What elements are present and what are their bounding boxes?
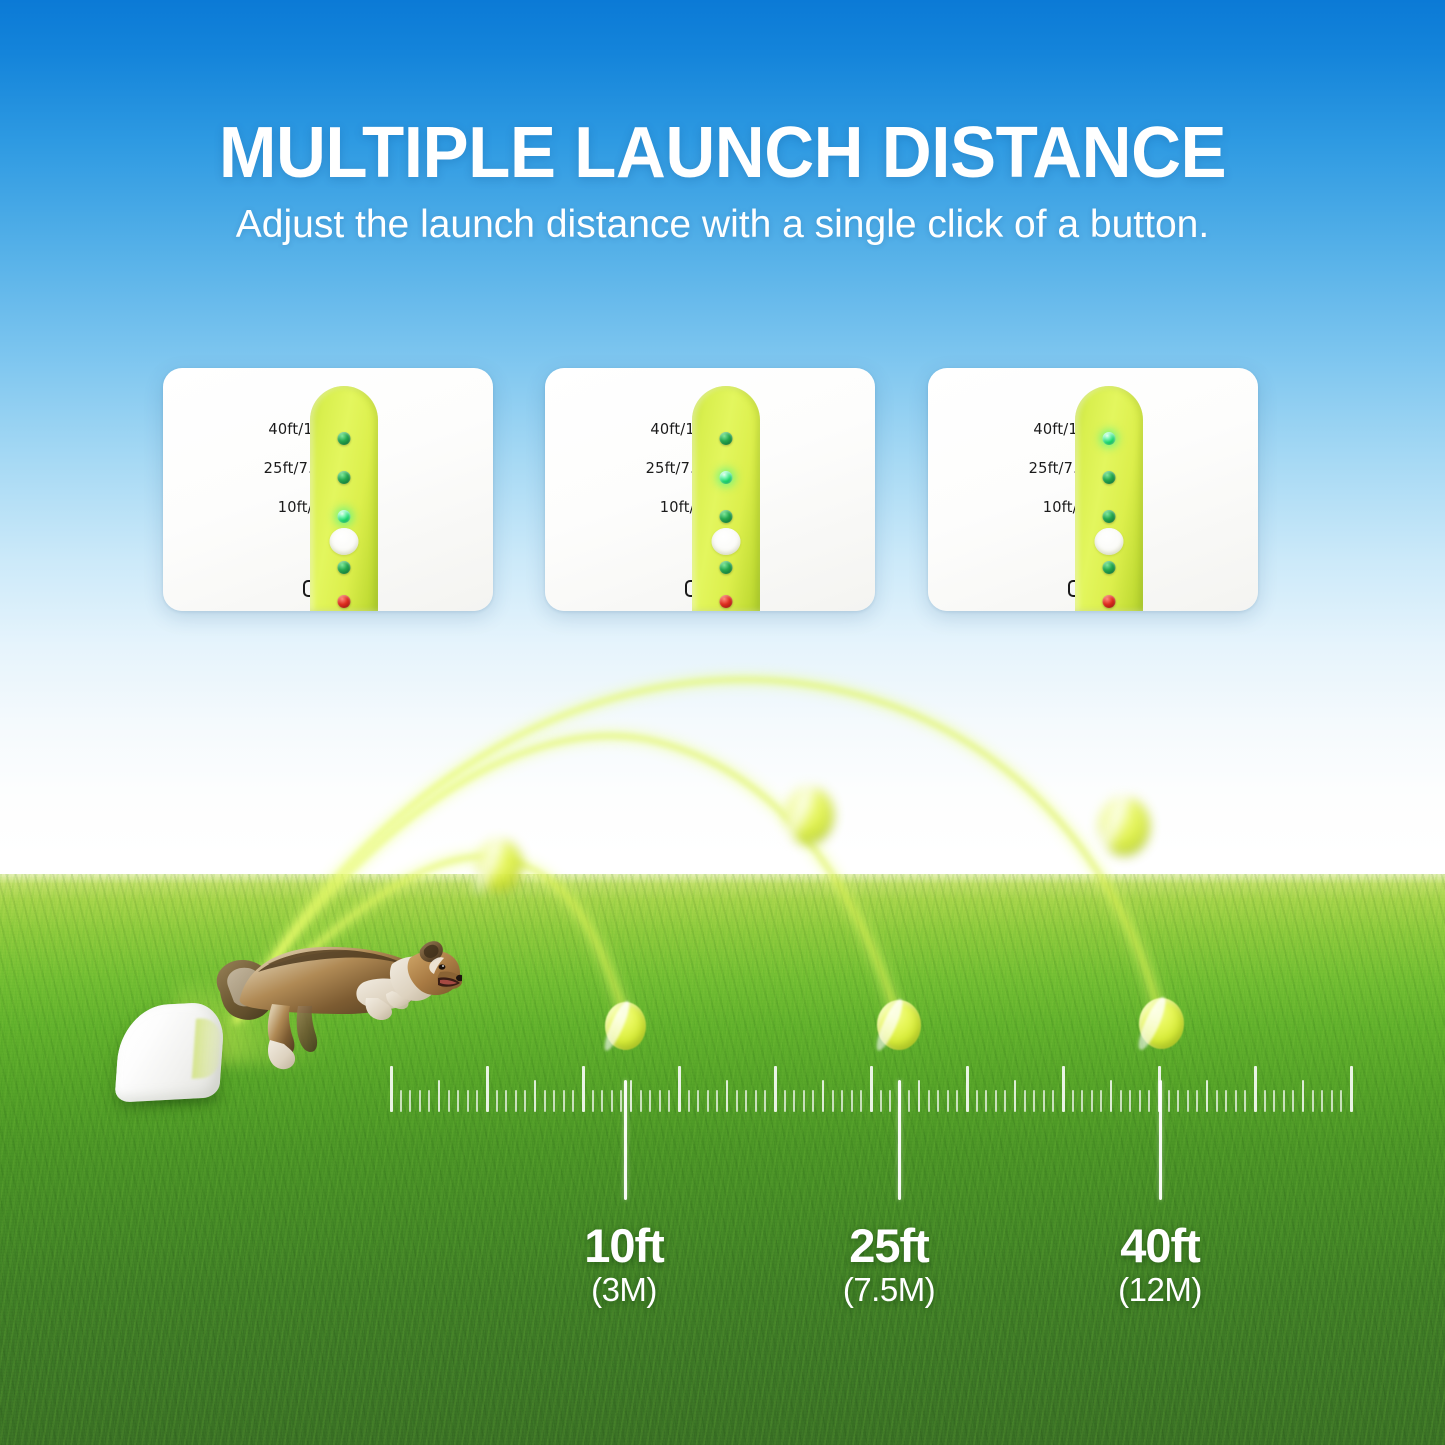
marker-25ft-meters: (7.5M) xyxy=(789,1269,989,1310)
led-40ft xyxy=(720,432,733,445)
page-subtitle: Adjust the launch distance with a single… xyxy=(0,203,1445,247)
ruler-tick xyxy=(1120,1090,1122,1112)
ruler-tick xyxy=(918,1080,920,1112)
ruler-tick xyxy=(745,1090,747,1112)
ruler-tick xyxy=(563,1090,565,1112)
ruler-tick xyxy=(1129,1090,1131,1112)
ruler-tick xyxy=(812,1090,814,1112)
ruler-tick xyxy=(611,1090,613,1112)
ruler-tick xyxy=(1139,1090,1141,1112)
led-10ft xyxy=(338,510,351,523)
ruler-tick xyxy=(1340,1090,1342,1112)
led-on xyxy=(338,561,351,574)
led-battery xyxy=(1103,595,1116,608)
dropline-40ft xyxy=(1159,1080,1162,1200)
ruler-tick xyxy=(534,1080,536,1112)
ruler-tick xyxy=(476,1090,478,1112)
ruler-tick xyxy=(515,1090,517,1112)
measuring-ruler xyxy=(390,1066,1355,1112)
marker-10ft: 10ft (3M) xyxy=(524,1222,724,1310)
led-25ft xyxy=(720,471,733,484)
ruler-tick xyxy=(784,1090,786,1112)
marker-25ft: 25ft (7.5M) xyxy=(789,1222,989,1310)
ruler-tick xyxy=(995,1090,997,1112)
control-strip xyxy=(310,386,378,611)
control-strip xyxy=(692,386,760,611)
ruler-tick xyxy=(486,1066,489,1112)
ruler-tick xyxy=(966,1066,969,1112)
power-button[interactable] xyxy=(712,528,741,555)
ruler-tick xyxy=(438,1080,440,1112)
led-10ft xyxy=(1103,510,1116,523)
tennis-ball-air-10ft xyxy=(476,838,522,892)
power-button[interactable] xyxy=(1095,528,1124,555)
ruler-tick xyxy=(1225,1090,1227,1112)
ruler-tick xyxy=(1072,1090,1074,1112)
ruler-tick xyxy=(870,1066,873,1112)
ruler-tick xyxy=(1331,1090,1333,1112)
ruler-tick xyxy=(928,1090,930,1112)
ruler-tick xyxy=(553,1090,555,1112)
ruler-tick xyxy=(678,1066,681,1112)
ruler-tick xyxy=(947,1090,949,1112)
ruler-tick xyxy=(716,1090,718,1112)
ruler-tick xyxy=(640,1090,642,1112)
ruler-tick xyxy=(707,1090,709,1112)
ruler-tick xyxy=(860,1090,862,1112)
ruler-tick xyxy=(764,1090,766,1112)
ruler-tick xyxy=(985,1090,987,1112)
ruler-tick xyxy=(505,1090,507,1112)
ruler-tick xyxy=(1110,1080,1112,1112)
ruler-tick xyxy=(659,1090,661,1112)
led-on xyxy=(1103,561,1116,574)
ruler-tick xyxy=(620,1090,622,1112)
ruler-tick xyxy=(1244,1090,1246,1112)
ruler-tick xyxy=(803,1090,805,1112)
led-40ft xyxy=(338,432,351,445)
ruler-tick xyxy=(697,1090,699,1112)
ruler-tick xyxy=(1033,1090,1035,1112)
tennis-ball-air-40ft xyxy=(1098,796,1150,856)
ruler-tick xyxy=(736,1090,738,1112)
ruler-tick xyxy=(1216,1090,1218,1112)
ruler-tick xyxy=(544,1090,546,1112)
ruler-tick xyxy=(851,1090,853,1112)
tennis-ball-air-25ft xyxy=(784,786,834,844)
ruler-tick xyxy=(572,1090,574,1112)
ruler-tick xyxy=(1168,1090,1170,1112)
ruler-tick xyxy=(496,1090,498,1112)
led-25ft xyxy=(1103,471,1116,484)
marker-40ft: 40ft (12M) xyxy=(1060,1222,1260,1310)
ruler-tick xyxy=(1004,1090,1006,1112)
ruler-tick xyxy=(1254,1066,1257,1112)
tennis-ball-landed-25ft xyxy=(877,1000,921,1050)
ruler-tick xyxy=(419,1090,421,1112)
jumping-dog xyxy=(214,920,462,1080)
ruler-tick xyxy=(1177,1090,1179,1112)
control-strip xyxy=(1075,386,1143,611)
page-title: MULTIPLE LAUNCH DISTANCE xyxy=(29,112,1416,194)
ruler-tick xyxy=(1196,1090,1198,1112)
ruler-tick xyxy=(1024,1090,1026,1112)
ruler-tick xyxy=(793,1090,795,1112)
ruler-tick xyxy=(630,1080,632,1112)
ruler-tick xyxy=(726,1080,728,1112)
ruler-tick xyxy=(956,1090,958,1112)
led-40ft xyxy=(1103,432,1116,445)
ruler-tick xyxy=(1350,1066,1353,1112)
panel-25ft[interactable]: 40ft/12m 25ft/7.5m 10ft/3m on xyxy=(545,368,875,611)
ruler-tick xyxy=(1091,1090,1093,1112)
led-25ft xyxy=(338,471,351,484)
marker-40ft-feet: 40ft xyxy=(1060,1222,1260,1269)
led-on xyxy=(720,561,733,574)
panel-40ft[interactable]: 40ft/12m 25ft/7.5m 10ft/3m on xyxy=(928,368,1258,611)
ruler-tick xyxy=(976,1090,978,1112)
ruler-tick xyxy=(880,1090,882,1112)
marker-10ft-feet: 10ft xyxy=(524,1222,724,1269)
ruler-tick xyxy=(1302,1080,1304,1112)
marker-40ft-meters: (12M) xyxy=(1060,1269,1260,1310)
ruler-tick xyxy=(649,1090,651,1112)
ruler-tick xyxy=(1283,1090,1285,1112)
ruler-tick xyxy=(832,1090,834,1112)
led-10ft xyxy=(720,510,733,523)
ruler-tick xyxy=(1187,1090,1189,1112)
ruler-tick xyxy=(1206,1080,1208,1112)
ruler-tick xyxy=(601,1090,603,1112)
ruler-tick xyxy=(1052,1090,1054,1112)
ball-launcher-device xyxy=(118,1004,222,1100)
ruler-tick xyxy=(1148,1090,1150,1112)
ruler-tick xyxy=(822,1080,824,1112)
ruler-tick xyxy=(1321,1090,1323,1112)
ruler-tick xyxy=(1235,1090,1237,1112)
ruler-tick xyxy=(889,1090,891,1112)
ruler-tick xyxy=(1273,1090,1275,1112)
led-battery xyxy=(720,595,733,608)
ruler-tick xyxy=(774,1066,777,1112)
ruler-tick xyxy=(582,1066,585,1112)
dropline-10ft xyxy=(624,1080,627,1200)
ruler-tick xyxy=(400,1090,402,1112)
ruler-tick xyxy=(688,1090,690,1112)
ruler-tick xyxy=(592,1090,594,1112)
dropline-25ft xyxy=(898,1080,901,1200)
ruler-tick xyxy=(467,1090,469,1112)
tennis-ball-landed-10ft xyxy=(605,1002,646,1050)
ruler-tick xyxy=(668,1090,670,1112)
infographic-stage: MULTIPLE LAUNCH DISTANCE Adjust the laun… xyxy=(0,0,1445,1445)
ruler-tick xyxy=(524,1090,526,1112)
marker-25ft-feet: 25ft xyxy=(789,1222,989,1269)
tennis-ball-landed-40ft xyxy=(1139,998,1184,1049)
dog-eye xyxy=(439,964,446,969)
ruler-tick xyxy=(1014,1080,1016,1112)
ruler-tick xyxy=(1062,1066,1065,1112)
ruler-tick xyxy=(448,1090,450,1112)
ruler-tick xyxy=(937,1090,939,1112)
led-battery xyxy=(338,595,351,608)
power-button[interactable] xyxy=(330,528,359,555)
panel-10ft[interactable]: 40ft/12m 25ft/7.5m 10ft/3m on xyxy=(163,368,493,611)
ruler-tick xyxy=(908,1090,910,1112)
ruler-tick xyxy=(1081,1090,1083,1112)
ruler-tick xyxy=(457,1090,459,1112)
ruler-tick xyxy=(1312,1090,1314,1112)
ruler-tick xyxy=(841,1090,843,1112)
ruler-tick xyxy=(1100,1090,1102,1112)
ruler-tick xyxy=(755,1090,757,1112)
ruler-tick xyxy=(409,1090,411,1112)
marker-10ft-meters: (3M) xyxy=(524,1269,724,1310)
ruler-tick xyxy=(1043,1090,1045,1112)
ruler-tick xyxy=(428,1090,430,1112)
ruler-tick xyxy=(1292,1090,1294,1112)
ruler-tick xyxy=(1264,1090,1266,1112)
ruler-tick xyxy=(390,1066,393,1112)
